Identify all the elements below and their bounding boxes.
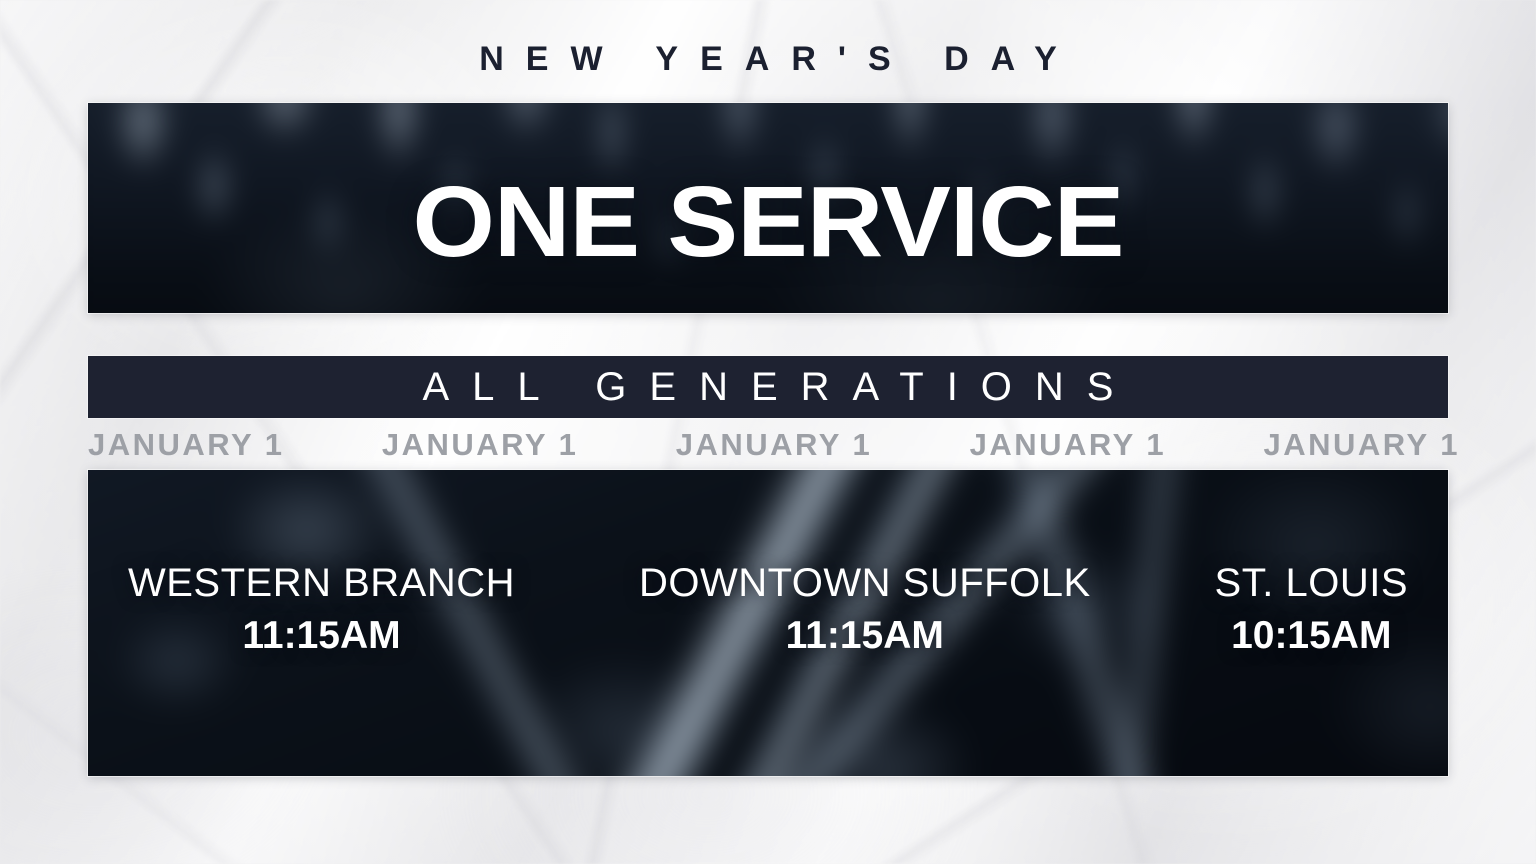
page-title: ONE SERVICE bbox=[0, 172, 1536, 272]
ticker-date-item: JANUARY 1 bbox=[676, 429, 873, 460]
ticker-date-item: JANUARY 1 bbox=[382, 429, 579, 460]
all-generations-band: ALL GENERATIONS bbox=[88, 356, 1448, 418]
campus-time: 11:15AM bbox=[128, 614, 515, 659]
kicker-text: NEW YEAR'S DAY bbox=[0, 42, 1536, 76]
campus-entry-western-branch: WESTERN BRANCH 11:15AM bbox=[128, 560, 515, 659]
campus-name: ST. LOUIS bbox=[1215, 560, 1408, 606]
poster-canvas: NEW YEAR'S DAY ONE SERVICE ALL GENERATIO… bbox=[0, 0, 1536, 864]
campus-service-times: WESTERN BRANCH 11:15AM DOWNTOWN SUFFOLK … bbox=[88, 560, 1448, 659]
ticker-date-item: JANUARY 1 bbox=[1264, 429, 1461, 460]
ticker-date-item: JANUARY 1 bbox=[970, 429, 1167, 460]
campus-entry-st-louis: ST. LOUIS 10:15AM bbox=[1215, 560, 1408, 659]
date-ticker: JANUARY 1 JANUARY 1 JANUARY 1 JANUARY 1 … bbox=[88, 424, 1460, 464]
campus-entry-downtown-suffolk: DOWNTOWN SUFFOLK 11:15AM bbox=[639, 560, 1091, 659]
campus-time: 11:15AM bbox=[639, 614, 1091, 659]
campus-name: DOWNTOWN SUFFOLK bbox=[639, 560, 1091, 606]
campus-name: WESTERN BRANCH bbox=[128, 560, 515, 606]
campus-time: 10:15AM bbox=[1215, 614, 1408, 659]
band-label: ALL GENERATIONS bbox=[400, 367, 1137, 407]
ticker-date-item: JANUARY 1 bbox=[88, 429, 285, 460]
